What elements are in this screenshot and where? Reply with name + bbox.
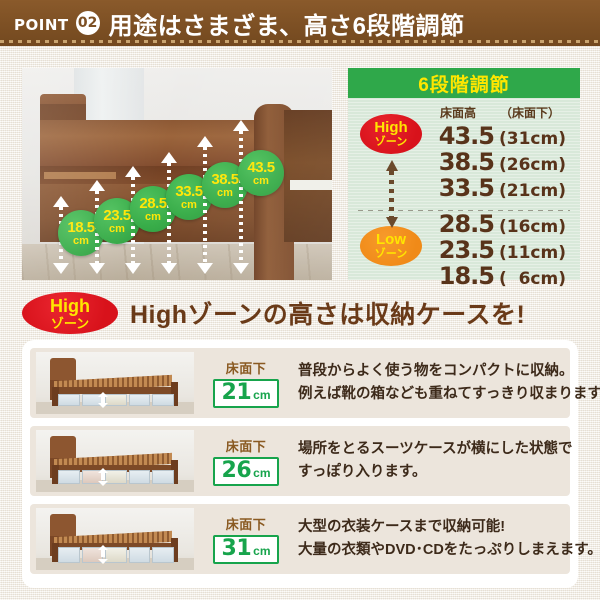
under-floor-value: (21cm): [499, 181, 566, 201]
storage-row-26cm: 床面下 26 cm 場所をとるスーツケースが横にした状態で すっぽり入ります。: [30, 426, 570, 496]
table-row: 33.5 (21cm): [432, 174, 580, 200]
high-zone-label-jp: ゾーン: [375, 137, 407, 148]
arrow-up-icon: [53, 196, 69, 207]
under-floor-unit: cm: [253, 389, 270, 401]
thumb-headboard: [50, 436, 76, 458]
arrow-up-icon: [386, 160, 398, 171]
arrow-up-icon: [197, 136, 213, 147]
height-table-rows: 43.5 (31cm) 38.5 (26cm) 33.5 (21cm) 28.5…: [432, 122, 580, 288]
dotted-line: [203, 147, 207, 263]
table-row: 18.5 ( 6cm): [432, 262, 580, 288]
page-title: 用途はさまざま、高さ6段階調節: [109, 6, 465, 41]
under-floor-value: (16cm): [499, 217, 566, 237]
floor-height-value: 18.5: [432, 262, 494, 290]
thumb-storage-boxes: [58, 547, 174, 563]
under-floor-number: 21: [222, 382, 252, 404]
high-zone-heading-badge: High ゾーン: [22, 292, 118, 334]
storage-box: [129, 470, 151, 484]
arrow-up-icon: [233, 120, 249, 131]
under-floor-number: 31: [222, 538, 252, 560]
high-zone-label-en: High: [374, 120, 407, 135]
storage-box: [58, 547, 80, 563]
floor-height-value: 38.5: [432, 148, 494, 176]
dotted-shaft: [389, 171, 394, 217]
table-row: 28.5 (16cm): [432, 210, 580, 236]
arrow-down-icon: [98, 481, 108, 486]
high-zone-heading: High ゾーン Highゾーンの高さは収納ケースを!: [22, 291, 578, 335]
floor-height-value: 43.5: [432, 122, 494, 150]
under-floor-label: 床面下: [226, 514, 267, 533]
thumb-height-arrow-icon: [98, 545, 108, 564]
under-floor-value: (31cm): [499, 129, 566, 149]
high-zone-badge: High ゾーン: [360, 114, 422, 154]
storage-row-31cm: 床面下 31 cm 大型の衣装ケースまで収納可能! 大量の衣類やDVD･CDをた…: [30, 504, 570, 574]
storage-box: [129, 547, 151, 563]
height-adjustment-table: 6段階調節 床面高 （床面下） 43.5 (31cm) 38.5 (26cm) …: [348, 68, 580, 280]
column-header-floor-height: 床面高: [440, 104, 476, 121]
point-label: POINT: [14, 11, 69, 35]
under-floor-value-box: 31 cm: [213, 535, 280, 564]
under-floor-measure-21cm: 床面下 21 cm: [204, 358, 288, 408]
thumb-height-arrow-icon: [98, 392, 108, 408]
under-floor-value: ( 6cm): [499, 269, 566, 289]
storage-box: [152, 470, 174, 484]
under-floor-unit: cm: [253, 467, 270, 479]
under-floor-label: 床面下: [226, 436, 267, 455]
bed-footboard: [284, 110, 332, 242]
low-zone-label-en: Low: [376, 232, 406, 247]
table-row: 23.5 (11cm): [432, 236, 580, 262]
under-floor-unit: cm: [253, 545, 270, 557]
storage-row-21cm: 床面下 21 cm 普段からよく使う物をコンパクトに収納。 例えば靴の箱なども重…: [30, 348, 570, 418]
storage-description-26cm: 場所をとるスーツケースが横にした状態で すっぽり入ります。: [298, 438, 572, 484]
storage-box: [58, 394, 80, 406]
description-line-1: 場所をとるスーツケースが横にした状態で: [298, 438, 572, 461]
table-row: 43.5 (31cm): [432, 122, 580, 148]
thumb-storage-boxes: [58, 394, 174, 406]
high-zone-heading-badge-en: High: [50, 297, 90, 315]
thumb-headboard: [50, 358, 76, 380]
description-line-2: 大量の衣類やDVD･CDをたっぷりしまえます。: [298, 539, 600, 562]
under-floor-value-box: 26 cm: [213, 457, 280, 486]
column-header-under-floor: （床面下）: [500, 104, 560, 121]
high-zone-heading-badge-jp: ゾーン: [51, 317, 89, 330]
arrow-shaft: [101, 472, 105, 480]
storage-photo-26cm: [36, 430, 194, 492]
bed-footboard-slot: [290, 180, 332, 190]
bed-height-photo: 18.5 cm 23.5 cm 28.5 cm 33.5 cm: [22, 68, 332, 280]
point-header: POINT 02 用途はさまざま、高さ6段階調節: [0, 0, 600, 46]
arrow-down-icon: [98, 559, 108, 564]
arrow-up-icon: [89, 180, 105, 191]
table-row: 38.5 (26cm): [432, 148, 580, 174]
height-table-title: 6段階調節: [348, 68, 580, 98]
under-floor-value: (11cm): [499, 243, 566, 263]
arrow-down-icon: [125, 263, 141, 274]
under-floor-measure-31cm: 床面下 31 cm: [204, 514, 288, 564]
arrow-down-icon: [233, 263, 249, 274]
storage-box: [58, 470, 80, 484]
description-line-1: 普段からよく使う物をコンパクトに収納。: [298, 360, 600, 383]
header-dotted-rule: [0, 40, 600, 43]
height-badge-6: 43.5 cm: [238, 150, 284, 196]
bed-shelf: [44, 172, 116, 179]
arrow-up-icon: [161, 152, 177, 163]
arrow-down-icon: [161, 263, 177, 274]
description-line-2: 例えば靴の箱なども重ねてすっきり収まります。: [298, 383, 600, 406]
low-zone-badge: Low ゾーン: [360, 226, 422, 266]
storage-suggestions-card: 床面下 21 cm 普段からよく使う物をコンパクトに収納。 例えば靴の箱なども重…: [22, 340, 578, 588]
infographic-page: POINT 02 用途はさまざま、高さ6段階調節 18.5 cm: [0, 0, 600, 600]
arrow-down-icon: [386, 217, 398, 228]
storage-box: [152, 547, 174, 563]
under-floor-value: (26cm): [499, 155, 566, 175]
floor-height-value: 23.5: [432, 236, 494, 264]
arrow-down-icon: [98, 403, 108, 408]
measure-arrow-6: [228, 120, 254, 274]
arrow-down-icon: [53, 263, 69, 274]
storage-photo-21cm: [36, 352, 194, 414]
arrow-down-icon: [197, 263, 213, 274]
high-zone-heading-text: Highゾーンの高さは収納ケースを!: [130, 295, 525, 331]
arrow-shaft: [101, 549, 105, 557]
storage-photo-31cm: [36, 508, 194, 570]
storage-box: [105, 547, 127, 563]
thumb-frame: [52, 387, 178, 394]
dotted-line: [239, 131, 243, 263]
floor-height-value: 33.5: [432, 174, 494, 202]
storage-box: [105, 470, 127, 484]
description-line-1: 大型の衣装ケースまで収納可能!: [298, 516, 600, 539]
storage-description-21cm: 普段からよく使う物をコンパクトに収納。 例えば靴の箱なども重ねてすっきり収まりま…: [298, 360, 600, 406]
point-number-badge: 02: [76, 11, 100, 35]
storage-box: [105, 394, 127, 406]
arrow-down-icon: [89, 263, 105, 274]
dotted-line: [167, 163, 171, 263]
floor-height-value: 28.5: [432, 210, 494, 238]
under-floor-value-box: 21 cm: [213, 379, 280, 408]
under-floor-number: 26: [222, 460, 252, 482]
thumb-storage-boxes: [58, 470, 174, 484]
under-floor-measure-26cm: 床面下 26 cm: [204, 436, 288, 486]
description-line-2: すっぽり入ります。: [298, 461, 572, 484]
height-badge-unit: cm: [253, 176, 269, 187]
zone-range-arrow-icon: [386, 160, 396, 228]
arrow-up-icon: [125, 166, 141, 177]
thumb-headboard: [50, 514, 76, 536]
thumb-height-arrow-icon: [98, 468, 108, 486]
low-zone-label-jp: ゾーン: [375, 249, 407, 260]
storage-box: [152, 394, 174, 406]
storage-box: [129, 394, 151, 406]
storage-description-31cm: 大型の衣装ケースまで収納可能! 大量の衣類やDVD･CDをたっぷりしまえます。: [298, 516, 600, 562]
under-floor-label: 床面下: [226, 358, 267, 377]
height-badge-value: 43.5: [247, 160, 274, 175]
